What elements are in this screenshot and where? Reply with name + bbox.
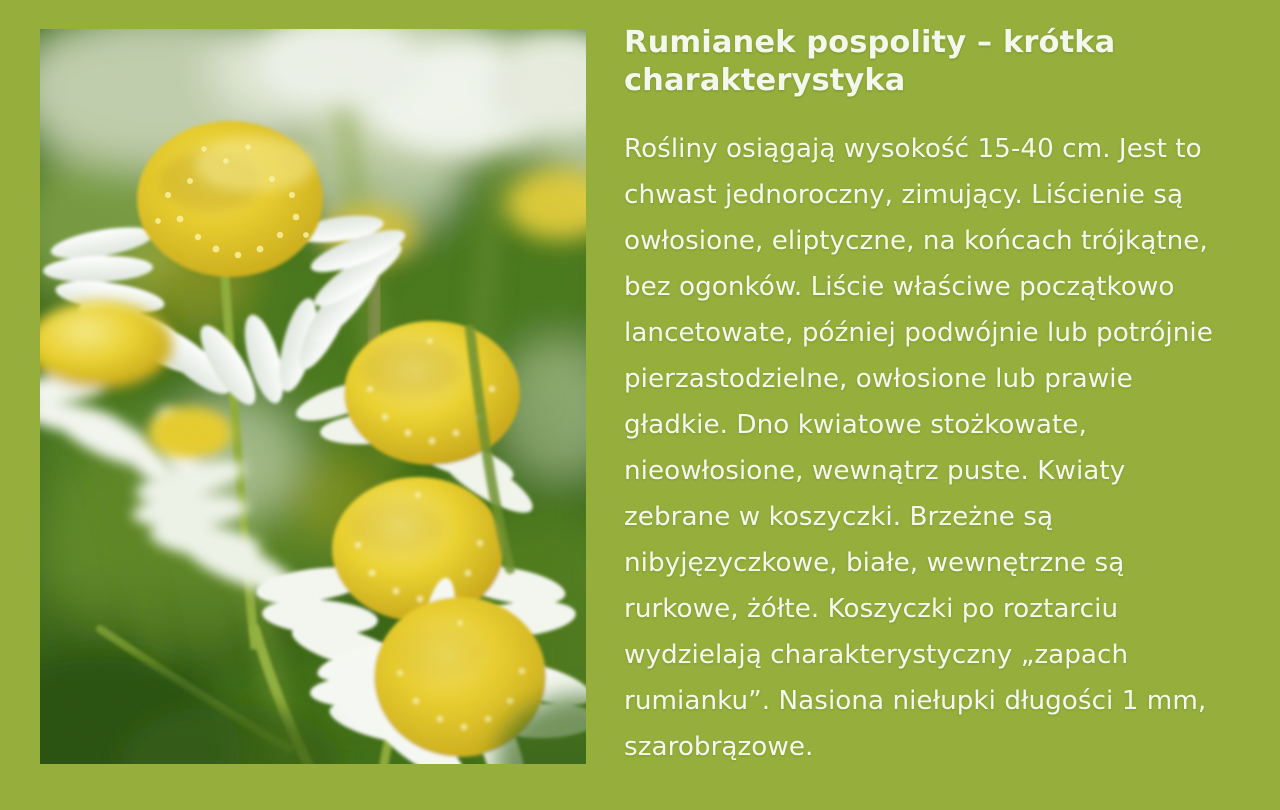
text-column: Rumianek pospolity – krótka charakteryst… (624, 24, 1248, 784)
page-title: Rumianek pospolity – krótka charakteryst… (624, 24, 1164, 100)
plant-description-text: Rośliny osiągają wysokość 15-40 cm. Jest… (624, 126, 1238, 770)
chamomile-flowers-photo (40, 29, 586, 764)
plant-info-card: Rumianek pospolity – krótka charakteryst… (0, 0, 1280, 810)
chamomile-photo-graphic (40, 29, 586, 764)
